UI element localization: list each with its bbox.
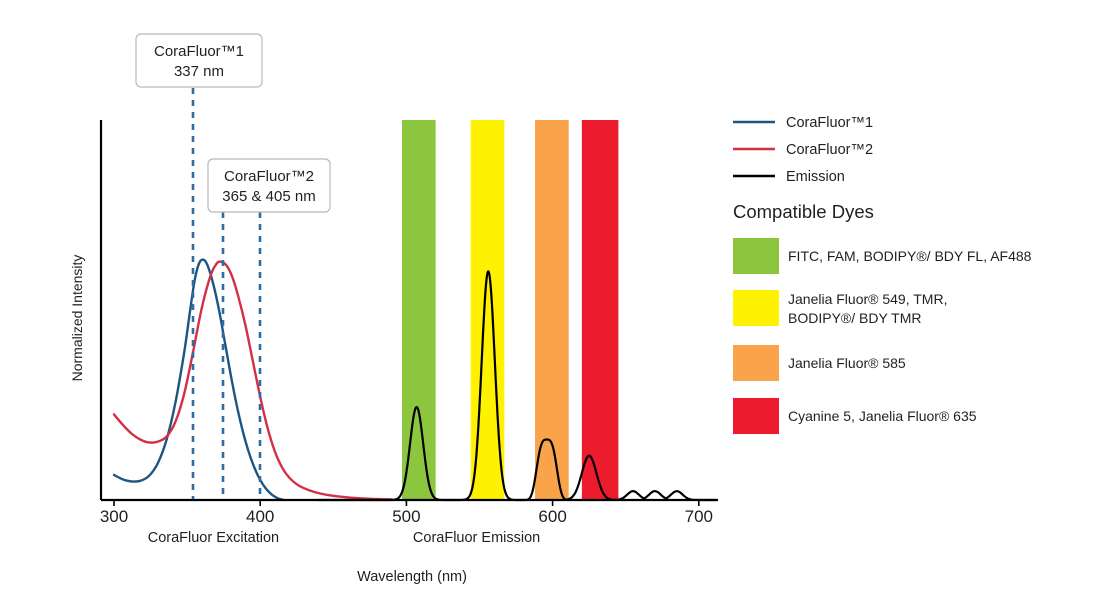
x-axis-sublabel-1: CoraFluor Excitation: [148, 530, 279, 546]
dye-item-1: Janelia Fluor® 549, TMR,BODIPY®/ BDY TMR: [733, 290, 947, 326]
cora-fluor-2-callout-line2: 365 & 405 nm: [222, 188, 315, 205]
emission-curve: [319, 271, 716, 500]
red-band: [582, 120, 619, 500]
callout-boxes: CoraFluor™1337 nmCoraFluor™2365 & 405 nm: [136, 34, 330, 212]
y-axis-title: Normalized Intensity: [69, 255, 85, 382]
x-tick-label-700: 700: [685, 507, 713, 526]
x-tick-label-500: 500: [392, 507, 420, 526]
dye-label-1-1: BODIPY®/ BDY TMR: [788, 310, 922, 326]
legend-label-2: Emission: [786, 169, 845, 185]
cora-fluor-2-callout: CoraFluor™2365 & 405 nm: [208, 159, 330, 212]
dye-swatch-1: [733, 290, 779, 326]
dye-swatch-3: [733, 398, 779, 434]
dye-label-3-0: Cyanine 5, Janelia Fluor® 635: [788, 408, 977, 424]
series-legend: CoraFluor™1CoraFluor™2Emission: [733, 115, 873, 185]
compatible-dye-bands: [402, 120, 618, 500]
dye-label-2-0: Janelia Fluor® 585: [788, 355, 906, 371]
excitation-guide-lines: [193, 88, 260, 500]
cora-fluor-2-callout-line1: CoraFluor™2: [224, 168, 314, 185]
x-tick-label-300: 300: [100, 507, 128, 526]
x-axis-title: Wavelength (nm): [357, 569, 467, 585]
compatible-dyes-panel: Compatible DyesFITC, FAM, BODIPY®/ BDY F…: [733, 201, 1032, 434]
cora-fluor-1-callout-line1: CoraFluor™1: [154, 43, 244, 60]
legend-label-0: CoraFluor™1: [786, 115, 873, 131]
legend-item-1: CoraFluor™2: [733, 142, 873, 158]
compatible-dyes-heading: Compatible Dyes: [733, 201, 874, 222]
dye-swatch-0: [733, 238, 779, 274]
dye-label-1-0: Janelia Fluor® 549, TMR,: [788, 291, 947, 307]
cora-fluor-1-callout: CoraFluor™1337 nm: [136, 34, 262, 87]
x-tick-label-400: 400: [246, 507, 274, 526]
x-axis-sublabel-2: CoraFluor Emission: [413, 530, 540, 546]
x-tick-label-600: 600: [538, 507, 566, 526]
spectra-figure: 300400500600700CoraFluor ExcitationCoraF…: [0, 0, 1110, 612]
cora-fluor-1-callout-line2: 337 nm: [174, 63, 224, 80]
dye-item-0: FITC, FAM, BODIPY®/ BDY FL, AF488: [733, 238, 1032, 274]
dye-item-2: Janelia Fluor® 585: [733, 345, 906, 381]
legend-item-2: Emission: [733, 169, 845, 185]
x-axis-ticks: 300400500600700CoraFluor ExcitationCoraF…: [100, 500, 713, 546]
dye-swatch-2: [733, 345, 779, 381]
excitation-curve-CoraFluor1: [114, 260, 284, 500]
green-band: [402, 120, 436, 500]
legend-item-0: CoraFluor™1: [733, 115, 873, 131]
dye-item-3: Cyanine 5, Janelia Fluor® 635: [733, 398, 977, 434]
dye-label-0-0: FITC, FAM, BODIPY®/ BDY FL, AF488: [788, 248, 1032, 264]
legend-label-1: CoraFluor™2: [786, 142, 873, 158]
